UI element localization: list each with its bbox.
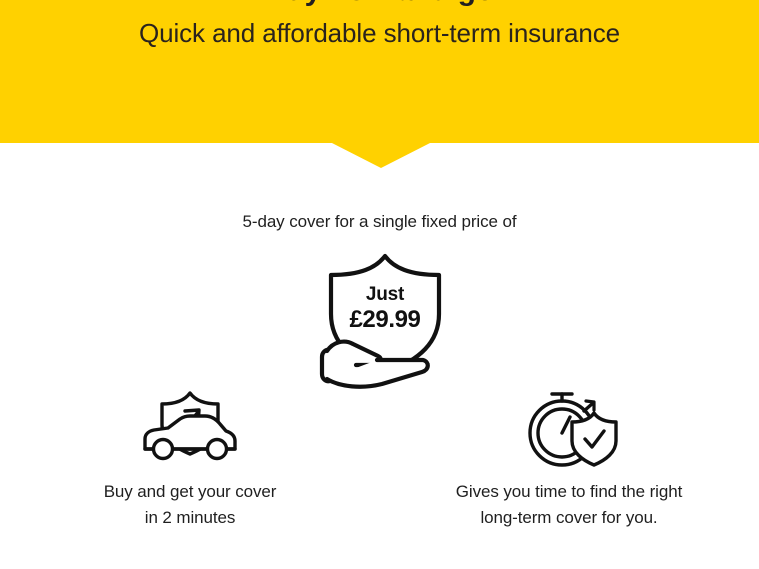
header-banner: Buy now and go Quick and affordable shor… <box>0 0 759 143</box>
banner-heading: Quick and affordable short-term insuranc… <box>0 18 759 49</box>
promo-page: Buy now and go Quick and affordable shor… <box>0 0 759 569</box>
feature-time-to-choose: Gives you time to find the right long-te… <box>409 383 729 531</box>
feature-caption: Gives you time to find the right long-te… <box>409 479 729 531</box>
feature-buy-quickly: Buy and get your cover in 2 minutes <box>30 383 350 531</box>
stopwatch-shield-check-icon <box>409 383 729 471</box>
car-shield-arrow-icon <box>30 383 350 471</box>
price-label: Just <box>300 284 470 306</box>
banner-clipped-headline: Buy now and go <box>0 0 759 8</box>
feature-caption: Buy and get your cover in 2 minutes <box>30 479 350 531</box>
down-caret-tab-icon <box>330 142 432 168</box>
feature-caption-line2: in 2 minutes <box>30 505 350 531</box>
feature-caption-line1: Gives you time to find the right <box>409 479 729 505</box>
feature-caption-line2: long-term cover for you. <box>409 505 729 531</box>
feature-caption-line1: Buy and get your cover <box>30 479 350 505</box>
price-amount: £29.99 <box>300 306 470 334</box>
price-intro-text: 5-day cover for a single fixed price of <box>0 212 759 232</box>
